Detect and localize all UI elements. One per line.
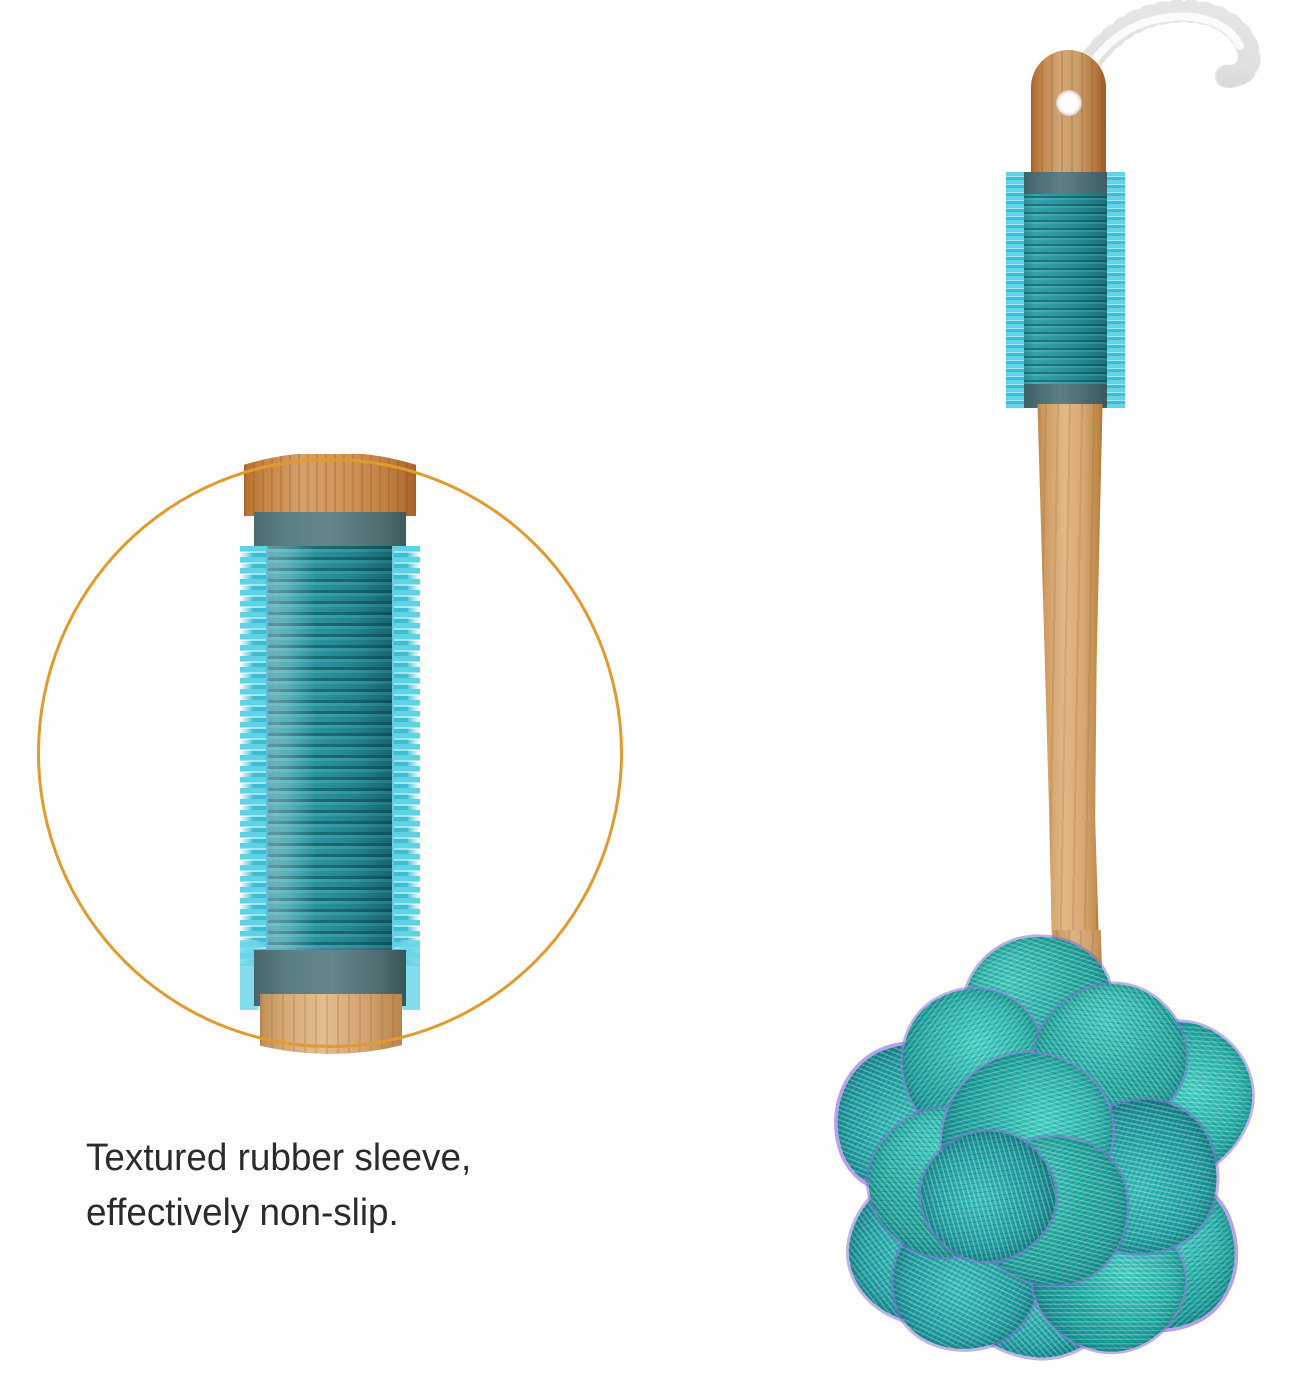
zoom-callout-circle <box>37 458 623 1048</box>
pouf-petal <box>1016 1191 1202 1371</box>
grip-teeth-left <box>1006 172 1024 408</box>
callout-ring-outline <box>37 458 623 1048</box>
pouf-petal <box>872 961 1078 1169</box>
wooden-shaft <box>1033 404 1107 964</box>
pouf-petal <box>1039 1074 1245 1280</box>
pouf-petal <box>950 1215 1125 1368</box>
pouf-petal <box>897 1105 1079 1287</box>
wooden-shaft-body <box>1033 404 1107 964</box>
subtitle-line-2: when you take a bath <box>14 239 590 295</box>
hanging-rope-icon <box>1050 0 1280 140</box>
loofah-mesh-pouf <box>830 925 1250 1365</box>
pouf-petal <box>1062 1153 1261 1353</box>
pouf-petal <box>1008 956 1211 1160</box>
wooden-shaft-lower <box>1044 930 1110 1050</box>
rubber-grip-sleeve <box>1006 172 1125 408</box>
pouf-petal <box>836 1159 1014 1337</box>
handle-top-cap <box>1031 50 1106 180</box>
pouf-petal <box>845 1081 1047 1282</box>
subtitle-line-1: Easy to grip and won't slip off easily <box>14 183 590 239</box>
pouf-petal <box>816 1025 1005 1214</box>
handle-hang-hole <box>1056 90 1082 116</box>
grip-band-bottom <box>1022 384 1109 408</box>
pouf-petal <box>877 1191 1055 1365</box>
callout-caption-line-2: effectively non-slip. <box>86 1186 471 1241</box>
product-feature-image: NON-SLIP HANDLE DESIGN Easy to grip and … <box>0 0 1289 1384</box>
pouf-petal <box>936 1047 1117 1226</box>
callout-caption-line-1: Textured rubber sleeve, <box>86 1131 471 1186</box>
grip-ribbed-core <box>1022 172 1109 408</box>
pouf-petal <box>966 1125 1139 1297</box>
grip-band-top <box>1022 172 1109 194</box>
subtitle-text: Easy to grip and won't slip off easily w… <box>14 183 590 295</box>
callout-caption: Textured rubber sleeve, effectively non-… <box>86 1131 471 1241</box>
grip-teeth-right <box>1107 172 1125 408</box>
pouf-petal <box>1074 998 1274 1201</box>
pouf-petal <box>955 930 1119 1085</box>
page-title: NON-SLIP HANDLE DESIGN <box>14 78 592 125</box>
